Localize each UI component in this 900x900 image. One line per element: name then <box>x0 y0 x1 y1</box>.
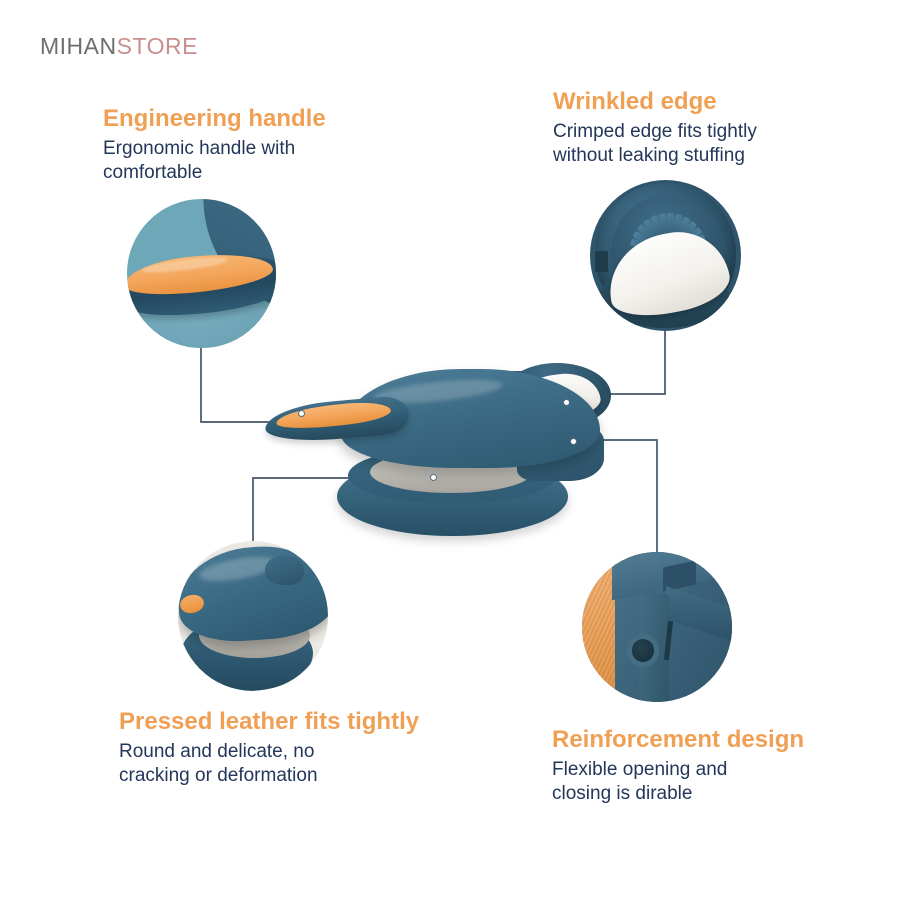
feature-description-wrinkled-edge: Crimped edge fits tightly without leakin… <box>553 120 757 169</box>
anchor-dot-crimped-edge <box>563 399 570 406</box>
callout-image-hinge-reinforcement <box>582 552 732 702</box>
callout-image-handle-grip <box>127 199 276 348</box>
brand-logo: MIHANSTORE <box>40 33 198 60</box>
feature-title-pressed-leather: Pressed leather fits tightly <box>119 708 419 736</box>
feature-title-engineering-handle: Engineering handle <box>103 105 326 133</box>
callout-image-press-plate <box>178 541 328 691</box>
product-image-dumpling-maker <box>258 352 618 542</box>
hinge-pin-hole <box>632 639 655 662</box>
anchor-dot-reinforcement <box>570 438 577 445</box>
feature-block-wrinkled-edge: Wrinkled edge Crimped edge fits tightly … <box>553 88 757 168</box>
feature-block-pressed-leather: Pressed leather fits tightly Round and d… <box>119 708 419 788</box>
feature-block-engineering-handle: Engineering handle Ergonomic handle with… <box>103 105 326 185</box>
callout-image-crimped-edge <box>590 180 741 331</box>
press-hinge-tab <box>595 251 609 272</box>
lid-knob <box>265 555 304 585</box>
feature-title-reinforcement-design: Reinforcement design <box>552 726 804 754</box>
hinge-reinforcement-illustration <box>582 552 732 702</box>
crimped-edge-illustration <box>590 180 741 331</box>
product-infographic: MIHANSTORE Engineering handle Ergonomic … <box>0 0 900 900</box>
brand-logo-primary: MIHAN <box>40 33 117 59</box>
feature-description-reinforcement-design: Flexible opening and closing is dirable <box>552 758 804 807</box>
anchor-dot-press-plate <box>430 474 437 481</box>
anchor-dot-handle <box>298 410 305 417</box>
feature-block-reinforcement-design: Reinforcement design Flexible opening an… <box>552 726 804 806</box>
feature-description-pressed-leather: Round and delicate, no cracking or defor… <box>119 740 419 789</box>
feature-description-engineering-handle: Ergonomic handle with comfortable <box>103 137 326 186</box>
handle-grip-illustration <box>127 199 276 348</box>
brand-logo-secondary: STORE <box>117 33 198 59</box>
feature-title-wrinkled-edge: Wrinkled edge <box>553 88 757 116</box>
press-plate-illustration <box>178 541 328 691</box>
